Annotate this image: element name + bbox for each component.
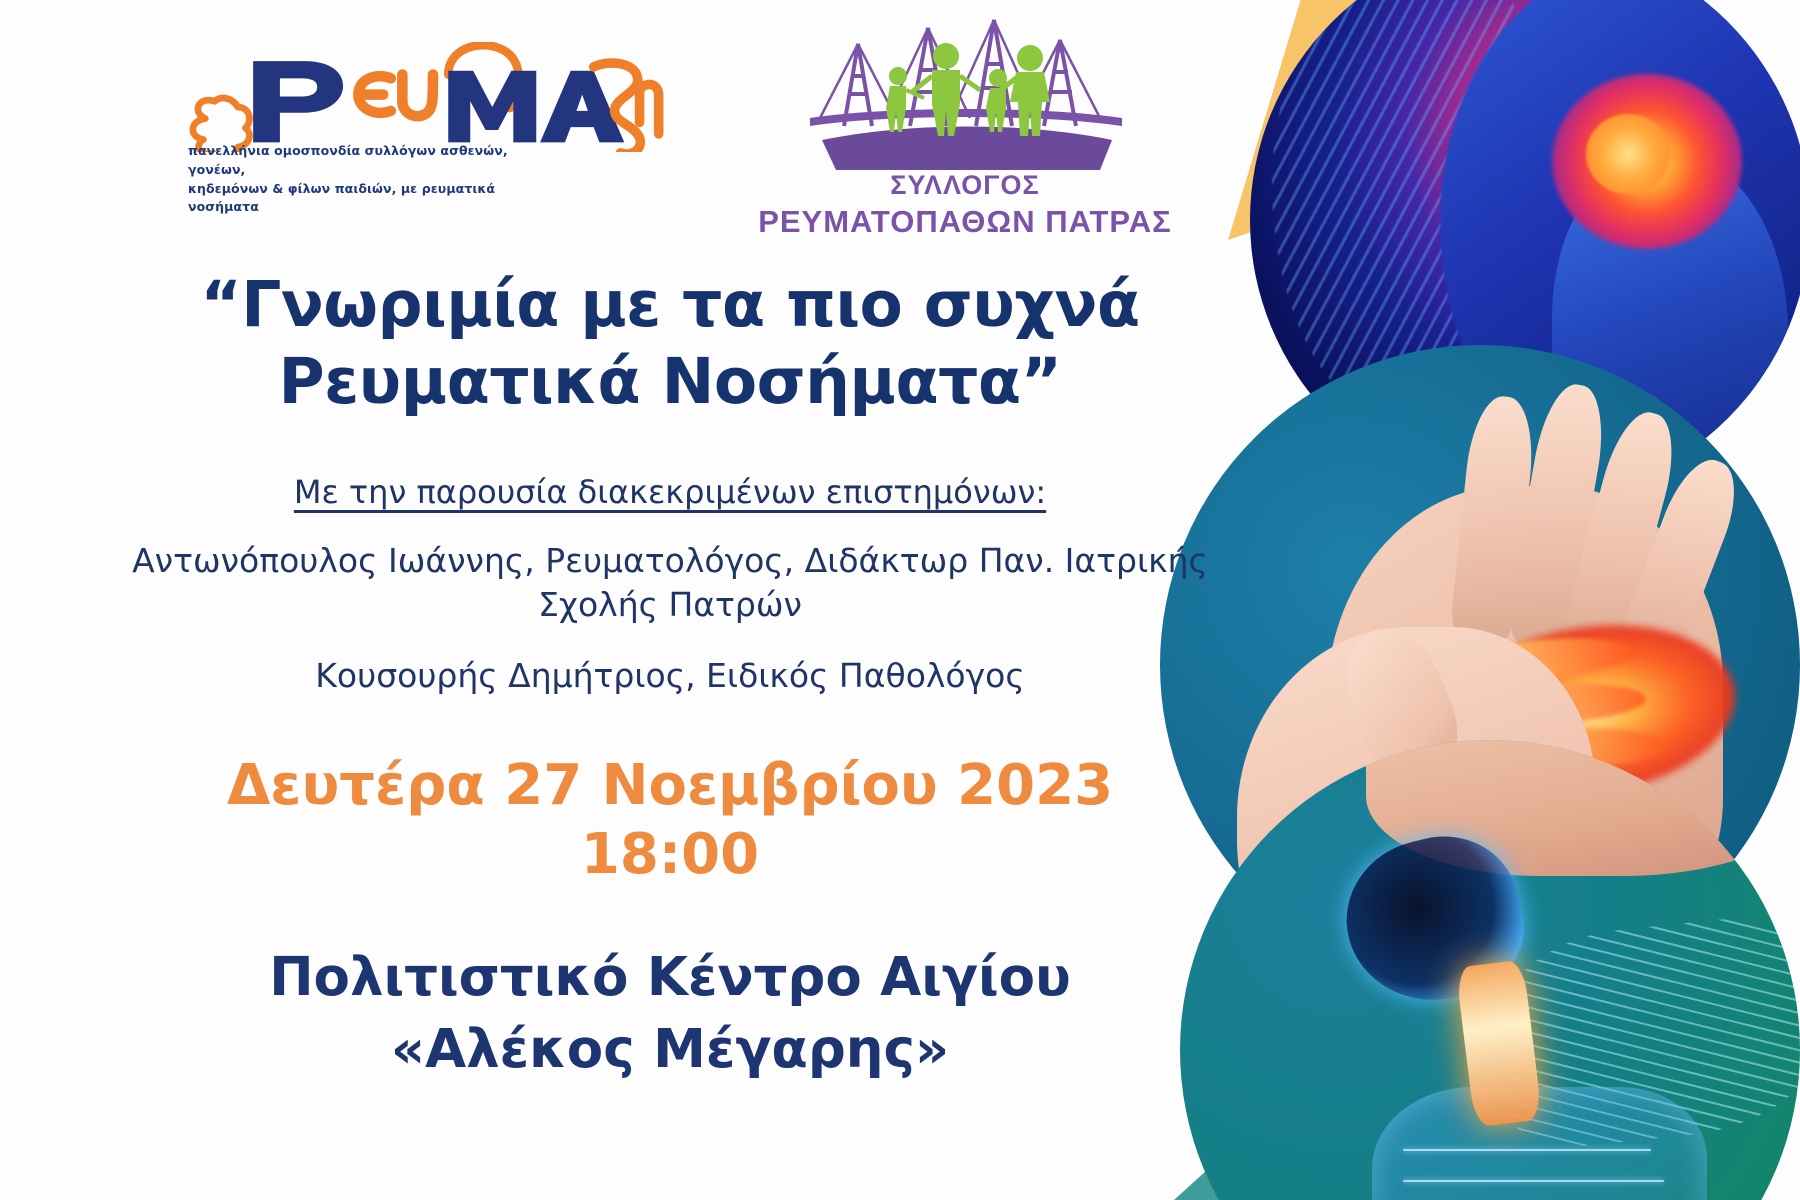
venue-line1: Πολιτιστικό Κέντρο Αιγίου	[10, 945, 1330, 1011]
federation-subtitle-line1: πανελλήνια ομοσπονδία συλλόγων ασθενών, …	[188, 142, 538, 180]
patras-association-logo: ΣΥΛΛΟΓΟΣ ΡΕΥΜΑΤΟΠΑΘΩΝ ΠΑΤΡΑΣ	[730, 14, 1200, 219]
venue-line2: «Αλέκος Μέγαρης»	[10, 1017, 1330, 1083]
poster-title-line2: Ρευματικά Νοσήματα”	[40, 344, 1300, 421]
event-poster: πανελλήνια ομοσπονδία συλλόγων ασθενών, …	[0, 0, 1800, 1200]
speaker-2-line1: Κουσουρής Δημήτριος, Ειδικός Παθολόγος	[130, 654, 1210, 699]
poster-title-line1: “Γνωριμία με τα πιο συχνά	[40, 267, 1300, 344]
reumazin-federation-logo: πανελλήνια ομοσπονδία συλλόγων ασθενών, …	[150, 14, 670, 219]
federation-subtitle-line2: κηδεμόνων & φίλων παιδιών, με ρευματικά …	[188, 180, 538, 218]
poster-title: “Γνωριμία με τα πιο συχνά Ρευματικά Νοσή…	[10, 267, 1330, 421]
rib	[1403, 1149, 1651, 1151]
event-datetime: Δευτέρα 27 Νοεμβρίου 2023 18:00	[10, 752, 1330, 889]
reumazin-wordmark-icon	[150, 42, 670, 152]
association-name-line1: ΣΥΛΛΟΓΟΣ	[730, 170, 1200, 201]
speaker-1-line1: Αντωνόπουλος Ιωάννης, Ρευματολόγος, Διδά…	[130, 539, 1210, 584]
event-time: 18:00	[10, 821, 1330, 889]
rib	[1403, 1180, 1663, 1182]
logo-row: πανελλήνια ομοσπονδία συλλόγων ασθενών, …	[10, 0, 1330, 219]
speaker-entry: Αντωνόπουλος Ιωάννης, Ρευματολόγος, Διδά…	[10, 539, 1330, 628]
speakers-list: Αντωνόπουλος Ιωάννης, Ρευματολόγος, Διδά…	[10, 539, 1330, 699]
torso-xray	[1372, 1087, 1707, 1200]
event-date: Δευτέρα 27 Νοεμβρίου 2023	[10, 752, 1330, 820]
speaker-entry: Κουσουρής Δημήτριος, Ειδικός Παθολόγος	[10, 654, 1330, 699]
event-venue: Πολιτιστικό Κέντρο Αιγίου «Αλέκος Μέγαρη…	[10, 945, 1330, 1082]
federation-subtitle: πανελλήνια ομοσπονδία συλλόγων ασθενών, …	[188, 142, 538, 217]
bridge-family-icon	[800, 14, 1130, 174]
poster-content: πανελλήνια ομοσπονδία συλλόγων ασθενών, …	[0, 0, 1340, 1082]
pain-hotspot-core	[1586, 114, 1670, 194]
association-name-line2: ΡΕΥΜΑΤΟΠΑΘΩΝ ΠΑΤΡΑΣ	[730, 204, 1200, 240]
presence-note: Με την παρουσία διακεκριμένων επιστημόνω…	[10, 473, 1330, 511]
speaker-1-line2: Σχολής Πατρών	[130, 583, 1210, 628]
